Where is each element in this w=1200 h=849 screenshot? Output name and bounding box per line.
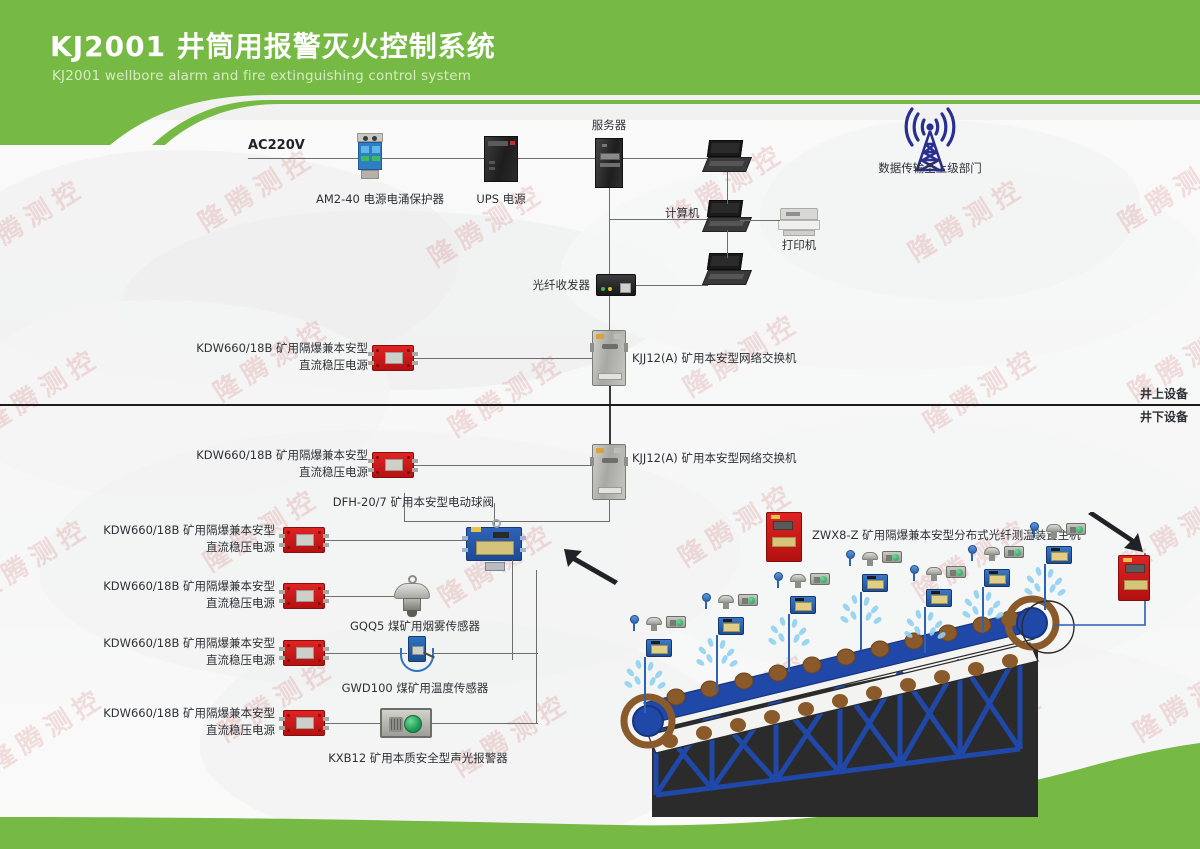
valve-bracket-horizontal: [404, 521, 610, 522]
server-label: 服务器: [573, 118, 645, 133]
fiber-converter-label: 光纤收发器: [486, 278, 590, 293]
kdw660-ug0-label-line2: 直流稳压电源: [168, 464, 368, 480]
kdw660-power-supply-ug4-device: [283, 710, 325, 736]
below-ground-label: 井下设备: [1140, 410, 1188, 425]
pc1-pc2-link: [727, 172, 728, 204]
printer-device: [778, 208, 820, 238]
kdw660-power-supply-ug0-device: [372, 452, 414, 478]
kdw660-ug3-label-line2: 直流稳压电源: [75, 652, 275, 668]
fiber-to-pc3-line: [636, 285, 708, 286]
page-title: KJ2001 井筒用报警灭火控制系统: [50, 25, 496, 65]
alarm-to-collector-line: [432, 723, 538, 724]
node-alarm-icon: [946, 566, 966, 578]
kjj12-switch-surface-label: KJJ12(A) 矿用本安型网络交换机: [632, 351, 796, 366]
kjj12-switch-underground-device: [592, 444, 626, 500]
node-nozzle-icon: [628, 615, 640, 630]
kxb12-alarm-label: KXB12 矿用本质安全型声光报警器: [318, 751, 518, 766]
node-smoke-sensor-icon: [862, 550, 878, 568]
node-smoke-sensor-icon: [790, 572, 806, 590]
kdw660-power-supply-ug3-device: [283, 640, 325, 666]
sensor-collector-bus-vertical: [536, 570, 537, 724]
node-smoke-sensor-icon: [646, 615, 662, 633]
gqq5-smoke-sensor-device: [392, 575, 432, 619]
node-alarm-icon: [738, 594, 758, 606]
switch-to-valve-vertical: [609, 500, 610, 522]
kdw-surface-to-switch-line: [414, 358, 592, 359]
kdw660-ug2-label-line1: KDW660/18B 矿用隔爆兼本安型: [75, 578, 275, 594]
kdw660-ug3-label-line1: KDW660/18B 矿用隔爆兼本安型: [75, 635, 275, 651]
gwd100-temperature-sensor-device: [400, 636, 434, 678]
node-nozzle-icon: [966, 545, 978, 560]
gwd100-temperature-sensor-label: GWD100 煤矿用温度传感器: [340, 681, 490, 696]
node-smoke-sensor-icon: [984, 545, 1000, 563]
node-nozzle-icon: [1028, 522, 1040, 537]
uplink-label: 数据传输至上级部门: [855, 161, 1005, 176]
node-control-box: [790, 596, 816, 614]
kdw660-ug1-label-line1: KDW660/18B 矿用隔爆兼本安型: [75, 522, 275, 538]
node7-drop-pipe: [1044, 564, 1046, 610]
dfh-ball-valve-label: DFH-20/7 矿用本安型电动球阀: [274, 495, 494, 510]
server-trunk-vertical: [609, 188, 610, 285]
smoke-collector-vertical: [512, 560, 513, 660]
kdw660-surface-label-line1: KDW660/18B 矿用隔爆兼本安型: [168, 340, 368, 356]
node-alarm-icon: [1004, 546, 1024, 558]
ac220v-label: AC220V: [248, 138, 305, 153]
am2-40-surge-protector-device: [357, 133, 383, 179]
dfh-20-7-ball-valve-device: [466, 527, 522, 561]
kdw-ug1-to-valve-line: [325, 540, 467, 541]
temp-to-collector-line: [432, 653, 538, 654]
node-control-box: [1046, 546, 1072, 564]
computer-label: 计算机: [665, 206, 700, 221]
zwx8-z-field-unit-device: [1118, 555, 1150, 601]
node2-drop-pipe: [716, 635, 718, 693]
node-alarm-icon: [1066, 523, 1086, 535]
server-device: [595, 138, 623, 188]
surge-foot: [361, 170, 379, 179]
computer-device-1: [705, 140, 749, 175]
node6-drop-pipe: [982, 587, 984, 633]
node-nozzle-icon: [844, 550, 856, 565]
printer-label: 打印机: [764, 238, 834, 253]
node4-drop-pipe: [860, 592, 862, 650]
kdw-ug3-to-temp-line: [325, 653, 407, 654]
node-alarm-icon: [810, 573, 830, 585]
server-to-pc1-line: [623, 158, 711, 159]
kdw660-power-supply-ug1-device: [283, 527, 325, 553]
ups-label: UPS 电源: [461, 192, 541, 207]
fiber-media-converter-device: [596, 274, 636, 296]
node-control-box: [984, 569, 1010, 587]
fiber-to-switch-trunk: [609, 296, 610, 332]
pc2-to-printer-line: [740, 220, 780, 221]
node-nozzle-icon: [772, 572, 784, 587]
kdw660-ug4-label-line2: 直流稳压电源: [75, 722, 275, 738]
kdw-ug0-to-switch-line: [414, 465, 592, 466]
surge-cap: [357, 133, 383, 142]
above-ground-label: 井上设备: [1140, 387, 1188, 402]
node-control-box: [862, 574, 888, 592]
kjj12-switch-underground-label: KJJ12(A) 矿用本安型网络交换机: [632, 451, 796, 466]
am2-40-label: AM2-40 电源电涌保护器: [300, 192, 460, 207]
node1-drop-pipe: [644, 657, 646, 713]
node-control-box: [926, 589, 952, 607]
node-smoke-sensor-icon: [1046, 522, 1062, 540]
node-control-box: [646, 639, 672, 657]
kdw660-ug4-label-line1: KDW660/18B 矿用隔爆兼本安型: [75, 705, 275, 721]
surface-to-underground-trunk: [609, 386, 611, 446]
kdw660-ug0-label-line1: KDW660/18B 矿用隔爆兼本安型: [168, 447, 368, 463]
node-nozzle-icon: [700, 593, 712, 608]
node-nozzle-icon: [908, 565, 920, 580]
surge-body: [358, 142, 382, 170]
kdw660-power-supply-ug2-device: [283, 583, 325, 609]
ups-device: [484, 136, 518, 182]
kdw-ug4-to-alarm-line: [325, 723, 381, 724]
kdw660-ug1-label-line2: 直流稳压电源: [75, 539, 275, 555]
node-control-box: [718, 617, 744, 635]
surface-underground-divider: [0, 404, 1200, 406]
kdw660-power-supply-surface-device: [372, 345, 414, 371]
page-subtitle: KJ2001 wellbore alarm and fire extinguis…: [52, 68, 471, 84]
diagram-canvas: 隆腾测控 隆腾测控 隆腾测控 隆腾测控 隆腾测控 隆腾测控 隆腾测控 隆腾测控 …: [0, 0, 1200, 849]
computer-device-3: [705, 253, 749, 288]
kdw-ug2-to-smoke-line: [325, 596, 397, 597]
kjj12-switch-surface-device: [592, 330, 626, 386]
node3-drop-pipe: [788, 614, 790, 672]
node-alarm-icon: [882, 551, 902, 563]
kdw660-ug2-label-line2: 直流稳压电源: [75, 595, 275, 611]
node-smoke-sensor-icon: [718, 593, 734, 611]
ac-bus-line: [248, 158, 608, 159]
gqq5-smoke-sensor-label: GQQ5 煤矿用烟雾传感器: [345, 619, 485, 634]
kdw660-surface-label-line2: 直流稳压电源: [168, 357, 368, 373]
node5-drop-pipe: [924, 607, 926, 653]
node-smoke-sensor-icon: [926, 565, 942, 583]
node-alarm-icon: [666, 616, 686, 628]
conveyor-belt-illustration: [600, 535, 1200, 849]
kxb12-sound-light-alarm-device: [380, 708, 432, 738]
pc2-pc3-link: [727, 230, 728, 258]
